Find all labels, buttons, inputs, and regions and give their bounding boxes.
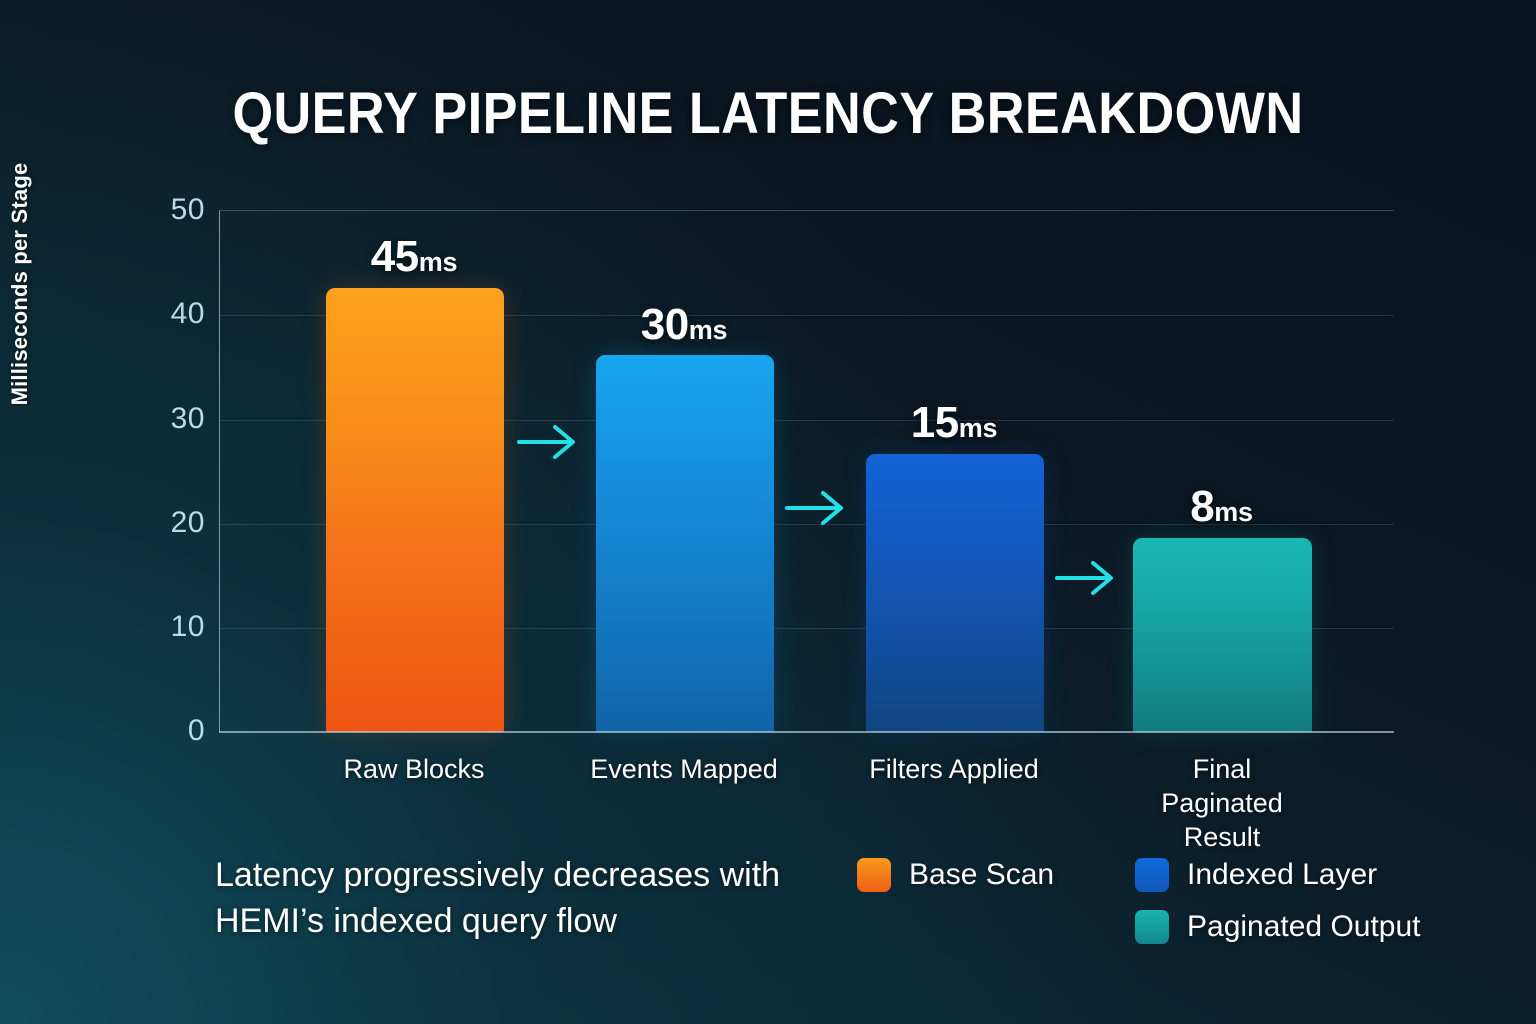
bar-value-number: 15: [911, 398, 959, 447]
bar-value-events-mapped: 30ms: [595, 300, 773, 350]
bar-value-unit: ms: [689, 315, 727, 345]
bar-value-unit: ms: [1214, 497, 1252, 527]
legend-item-indexed-layer[interactable]: Indexed Layer: [1135, 858, 1377, 892]
x-tick-label-final-paginated-result: Final Paginated Result: [1130, 753, 1314, 854]
bar-filters-applied[interactable]: [866, 454, 1044, 732]
flow-arrow-2-icon: [783, 486, 853, 530]
bar-value-unit: ms: [959, 413, 997, 443]
bar-value-number: 8: [1190, 482, 1214, 531]
bar-final-paginated-result[interactable]: [1133, 538, 1312, 732]
legend-label-indexed-layer: Indexed Layer: [1187, 858, 1377, 892]
y-tick-0: 0: [135, 714, 205, 748]
legend-swatch-indexed-layer-icon: [1135, 858, 1169, 892]
x-tick-label-events-mapped: Events Mapped: [575, 753, 793, 787]
x-axis-line: [219, 731, 1394, 733]
legend-item-paginated-output[interactable]: Paginated Output: [1135, 910, 1421, 944]
y-tick-50: 50: [135, 193, 205, 227]
bar-value-raw-blocks: 45ms: [325, 232, 503, 282]
chart-canvas: QUERY PIPELINE LATENCY BREAKDOWN Millise…: [0, 0, 1536, 1024]
bar-value-filters-applied: 15ms: [865, 398, 1043, 448]
bar-raw-blocks[interactable]: [326, 288, 504, 732]
legend-swatch-paginated-output-icon: [1135, 910, 1169, 944]
bar-value-number: 30: [641, 300, 689, 349]
bar-value-unit: ms: [419, 247, 457, 277]
x-tick-label-filters-applied: Filters Applied: [845, 753, 1063, 787]
plot-area: [219, 210, 1394, 732]
legend-item-base-scan[interactable]: Base Scan: [857, 858, 1054, 892]
page-title: QUERY PIPELINE LATENCY BREAKDOWN: [77, 80, 1459, 147]
legend-label-paginated-output: Paginated Output: [1187, 910, 1421, 944]
y-tick-30: 30: [135, 402, 205, 436]
legend-label-base-scan: Base Scan: [909, 858, 1054, 892]
flow-arrow-3-icon: [1053, 556, 1123, 600]
flow-arrow-1-icon: [515, 420, 585, 464]
bar-value-number: 45: [371, 232, 419, 281]
x-tick-label-raw-blocks: Raw Blocks: [305, 753, 523, 787]
y-tick-20: 20: [135, 506, 205, 540]
bar-events-mapped[interactable]: [596, 355, 774, 732]
caption-text: Latency progressively decreases with HEM…: [215, 852, 815, 944]
y-tick-40: 40: [135, 297, 205, 331]
legend-swatch-base-scan-icon: [857, 858, 891, 892]
y-axis-title: Milliseconds per Stage: [7, 84, 33, 484]
bar-value-final-paginated-result: 8ms: [1132, 482, 1311, 532]
y-tick-10: 10: [135, 610, 205, 644]
